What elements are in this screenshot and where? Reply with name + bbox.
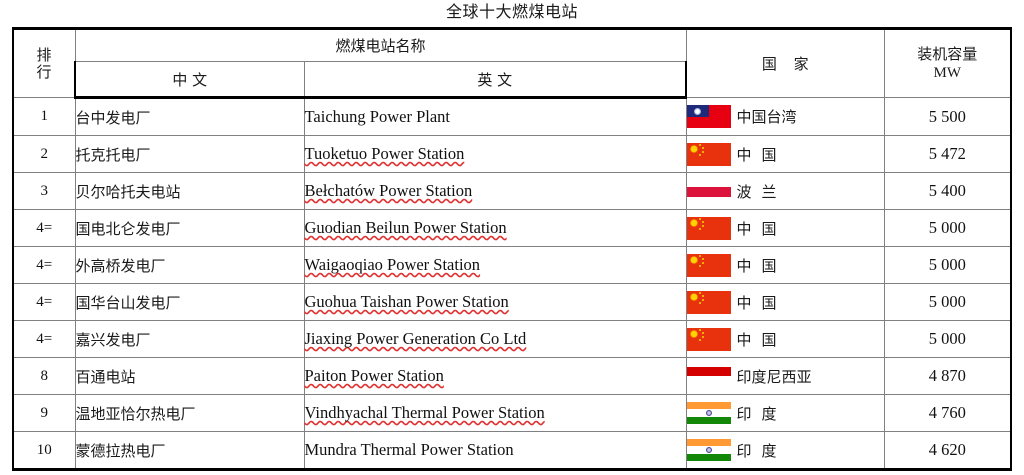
table-row: 4=国华台山发电厂Guohua Taishan Power Station中国5… <box>13 284 1011 321</box>
cell-name-chinese: 贝尔哈托夫电站 <box>75 173 304 210</box>
cell-name-chinese: 蒙德拉热电厂 <box>75 432 304 470</box>
table-row: 2托克托电厂Tuoketuo Power Station中国5 472 <box>13 136 1011 173</box>
station-english-name: Mundra Thermal Power Station <box>305 440 514 459</box>
country-label: 中国 <box>737 144 787 165</box>
country-label: 中国 <box>737 329 787 350</box>
cell-capacity: 4 760 <box>884 395 1011 432</box>
cell-name-chinese: 嘉兴发电厂 <box>75 321 304 358</box>
table-row: 9温地亚恰尔热电厂Vindhyachal Thermal Power Stati… <box>13 395 1011 432</box>
cell-country: 中国台湾 <box>686 98 884 136</box>
indonesia-flag <box>687 365 731 388</box>
cell-country: 印度尼西亚 <box>686 358 884 395</box>
table-row: 8百通电站Paiton Power Station印度尼西亚4 870 <box>13 358 1011 395</box>
table-row: 10蒙德拉热电厂Mundra Thermal Power Station印度4 … <box>13 432 1011 470</box>
poland-flag <box>687 180 731 203</box>
cell-name-chinese: 台中发电厂 <box>75 98 304 136</box>
cell-country: 印度 <box>686 432 884 470</box>
column-header-country: 国 家 <box>686 29 884 98</box>
china-flag <box>687 217 731 240</box>
cell-rank: 10 <box>13 432 75 470</box>
cell-name-chinese: 托克托电厂 <box>75 136 304 173</box>
cell-rank: 9 <box>13 395 75 432</box>
column-header-capacity: 装机容量 MW <box>884 29 1011 98</box>
cell-country: 中国 <box>686 136 884 173</box>
capacity-header-unit: MW <box>885 64 1011 82</box>
cell-capacity: 4 620 <box>884 432 1011 470</box>
india-flag <box>687 439 731 462</box>
country-label: 印度 <box>737 440 787 461</box>
china-flag <box>687 328 731 351</box>
cell-capacity: 4 870 <box>884 358 1011 395</box>
country-label: 印度尼西亚 <box>737 366 812 387</box>
cell-name-chinese: 国华台山发电厂 <box>75 284 304 321</box>
table-header: 排 行 燃煤电站名称 国 家 装机容量 MW 中 文 英 文 <box>13 29 1011 98</box>
country-label: 波兰 <box>737 181 787 202</box>
china-flag <box>687 143 731 166</box>
cell-name-chinese: 国电北仑发电厂 <box>75 210 304 247</box>
station-english-name: Vindhyachal Thermal Power Station <box>305 403 545 422</box>
cell-country: 中国 <box>686 210 884 247</box>
cell-country: 中国 <box>686 284 884 321</box>
cell-capacity: 5 000 <box>884 321 1011 358</box>
country-label: 中国 <box>737 292 787 313</box>
header-row-top: 排 行 燃煤电站名称 国 家 装机容量 MW <box>13 29 1011 62</box>
cell-name-english: Tuoketuo Power Station <box>304 136 686 173</box>
table-body: 1台中发电厂Taichung Power Plant中国台湾5 5002托克托电… <box>13 98 1011 470</box>
power-stations-table: 排 行 燃煤电站名称 国 家 装机容量 MW 中 文 英 文 1台中发电厂Tai… <box>12 27 1012 471</box>
cell-name-chinese: 温地亚恰尔热电厂 <box>75 395 304 432</box>
station-english-name: Taichung Power Plant <box>305 107 451 126</box>
china-flag <box>687 291 731 314</box>
cell-name-english: Vindhyachal Thermal Power Station <box>304 395 686 432</box>
cell-capacity: 5 000 <box>884 247 1011 284</box>
table-row: 1台中发电厂Taichung Power Plant中国台湾5 500 <box>13 98 1011 136</box>
rank-header-char-2: 行 <box>14 64 74 80</box>
page-title: 全球十大燃煤电站 <box>0 1 1024 23</box>
country-label: 中国 <box>737 218 787 239</box>
table-row: 4=国电北仑发电厂Guodian Beilun Power Station中国5… <box>13 210 1011 247</box>
cell-capacity: 5 400 <box>884 173 1011 210</box>
station-english-name: Guohua Taishan Power Station <box>305 292 509 311</box>
cell-country: 中国 <box>686 321 884 358</box>
column-header-station-name: 燃煤电站名称 <box>75 29 686 62</box>
cell-capacity: 5 472 <box>884 136 1011 173</box>
cell-rank: 4= <box>13 321 75 358</box>
cell-name-english: Taichung Power Plant <box>304 98 686 136</box>
station-english-name: Bełchatów Power Station <box>305 181 473 200</box>
cell-country: 波兰 <box>686 173 884 210</box>
cell-name-english: Bełchatów Power Station <box>304 173 686 210</box>
cell-name-chinese: 百通电站 <box>75 358 304 395</box>
power-stations-table-wrapper: 排 行 燃煤电站名称 国 家 装机容量 MW 中 文 英 文 1台中发电厂Tai… <box>12 27 1012 471</box>
cell-name-english: Waigaoqiao Power Station <box>304 247 686 284</box>
station-english-name: Tuoketuo Power Station <box>305 144 465 163</box>
table-row: 4=外高桥发电厂Waigaoqiao Power Station中国5 000 <box>13 247 1011 284</box>
taiwan-flag <box>687 105 731 128</box>
cell-rank: 4= <box>13 210 75 247</box>
station-english-name: Paiton Power Station <box>305 366 444 385</box>
capacity-header-label: 装机容量 <box>917 45 977 63</box>
country-label: 印度 <box>737 403 787 424</box>
column-header-name-chinese: 中 文 <box>75 62 304 98</box>
cell-name-chinese: 外高桥发电厂 <box>75 247 304 284</box>
document-page: 全球十大燃煤电站 排 行 燃煤电站名称 国 家 装机容量 MW <box>0 0 1024 475</box>
india-flag <box>687 402 731 425</box>
table-row: 3贝尔哈托夫电站Bełchatów Power Station波兰5 400 <box>13 173 1011 210</box>
country-label: 中国台湾 <box>737 106 797 127</box>
cell-capacity: 5 500 <box>884 98 1011 136</box>
cell-rank: 2 <box>13 136 75 173</box>
station-english-name: Waigaoqiao Power Station <box>305 255 481 274</box>
cell-rank: 4= <box>13 247 75 284</box>
cell-rank: 4= <box>13 284 75 321</box>
cell-rank: 3 <box>13 173 75 210</box>
column-header-rank: 排 行 <box>13 29 75 98</box>
cell-name-english: Mundra Thermal Power Station <box>304 432 686 470</box>
rank-header-char-1: 排 <box>14 47 74 63</box>
station-english-name: Guodian Beilun Power Station <box>305 218 507 237</box>
cell-capacity: 5 000 <box>884 284 1011 321</box>
cell-capacity: 5 000 <box>884 210 1011 247</box>
cell-country: 印度 <box>686 395 884 432</box>
cell-name-english: Jiaxing Power Generation Co Ltd <box>304 321 686 358</box>
cell-name-english: Guohua Taishan Power Station <box>304 284 686 321</box>
column-header-name-english: 英 文 <box>304 62 686 98</box>
cell-rank: 8 <box>13 358 75 395</box>
country-label: 中国 <box>737 255 787 276</box>
cell-rank: 1 <box>13 98 75 136</box>
cell-country: 中国 <box>686 247 884 284</box>
cell-name-english: Guodian Beilun Power Station <box>304 210 686 247</box>
cell-name-english: Paiton Power Station <box>304 358 686 395</box>
station-english-name: Jiaxing Power Generation Co Ltd <box>305 329 527 348</box>
table-row: 4=嘉兴发电厂Jiaxing Power Generation Co Ltd中国… <box>13 321 1011 358</box>
china-flag <box>687 254 731 277</box>
